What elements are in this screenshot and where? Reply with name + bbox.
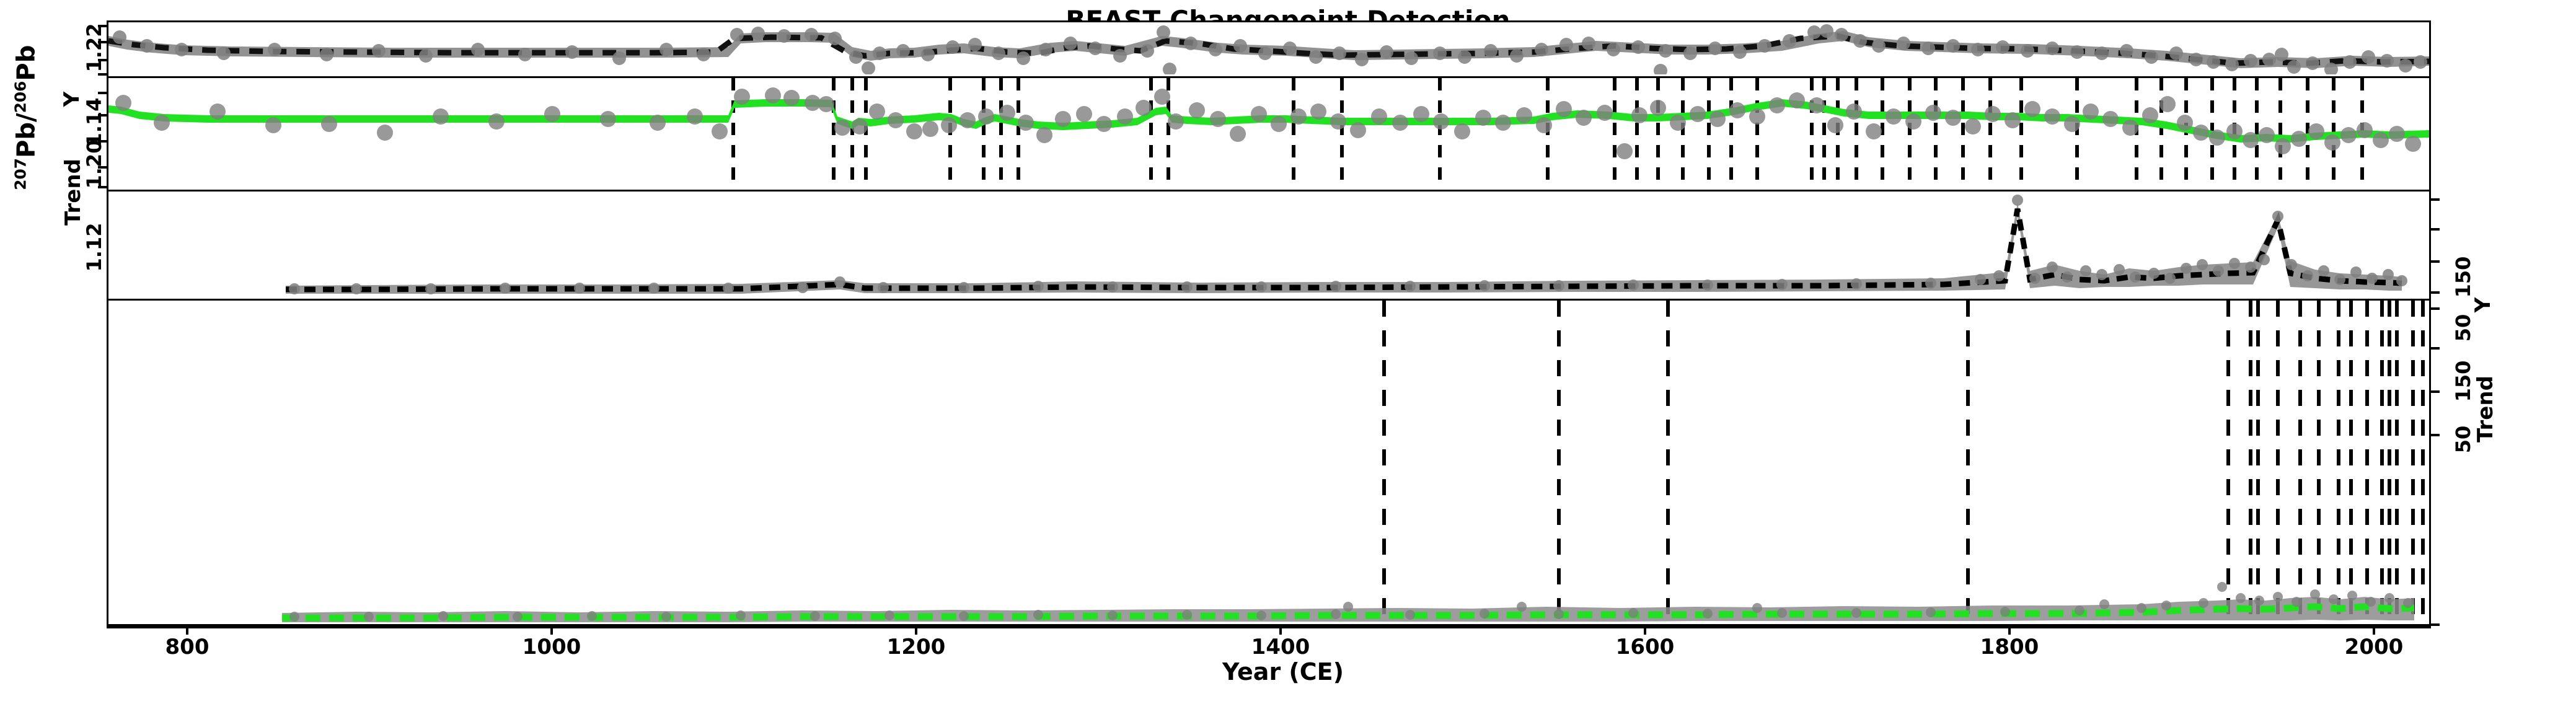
left-axis-title-mid: Pb/ xyxy=(12,113,41,158)
left-axis-title-sup2: 206 xyxy=(11,81,29,113)
panel-2-tick xyxy=(98,186,107,188)
panel-y-ef-plot xyxy=(108,192,2429,297)
panel-1-tick xyxy=(98,41,107,43)
panel-2-ytick-1-12: 1.12 xyxy=(82,210,106,284)
panel-3-tick xyxy=(2431,260,2440,263)
panel-4-axis-name: Trend xyxy=(2473,359,2498,459)
panel-y-pb xyxy=(107,20,2431,76)
left-axis-title-end: Pb xyxy=(12,45,41,81)
panel-2-tick xyxy=(98,140,107,143)
panel-3-tick xyxy=(2431,291,2440,294)
panel-2-tick xyxy=(98,166,107,169)
x-tick-mark xyxy=(2373,626,2375,635)
panel-4-tick xyxy=(2431,347,2440,350)
panel-1-axis-name: Y xyxy=(60,62,84,136)
x-tick-label-1400: 1400 xyxy=(1231,635,1330,659)
x-tick-mark xyxy=(2008,626,2011,635)
panel-4-ytick-50: 50 xyxy=(2451,402,2475,477)
panel-trend-ef-changepoint-lines xyxy=(1384,301,2423,624)
panel-y-pb-plot xyxy=(108,22,2429,74)
panel-4-tick xyxy=(2431,434,2440,436)
x-tick-mark xyxy=(1279,626,1282,635)
panel-1-tick xyxy=(98,59,107,61)
left-axis-title: 207Pb/206Pb xyxy=(11,19,40,217)
panel-3-tick xyxy=(2431,198,2440,201)
panel-3-tick xyxy=(2431,228,2440,231)
panel-2-tick xyxy=(98,114,107,117)
x-tick-mark xyxy=(186,626,188,635)
panel-2-tick xyxy=(98,92,107,94)
panel-y-ef-fit-line xyxy=(286,209,2402,289)
panel-trend-pb-credible-envelope xyxy=(108,99,2429,143)
panel-y-ef xyxy=(107,190,2431,299)
x-tick-label-2000: 2000 xyxy=(2324,635,2424,659)
panel-trend-ef xyxy=(107,299,2431,626)
panel-trend-pb xyxy=(107,76,2431,190)
panel-4-tick xyxy=(2431,307,2440,310)
x-tick-label-1200: 1200 xyxy=(867,635,966,659)
x-tick-label-1000: 1000 xyxy=(502,635,601,659)
x-tick-mark xyxy=(1644,626,1646,635)
x-tick-mark xyxy=(550,626,553,635)
x-tick-mark xyxy=(915,626,917,635)
x-tick-label-800: 800 xyxy=(138,635,237,659)
left-axis-title-sup1: 207 xyxy=(11,158,29,190)
panel-trend-pb-plot xyxy=(108,78,2429,188)
panel-1-tick xyxy=(98,25,107,27)
panel-trend-pb-changepoint-lines xyxy=(733,78,2362,188)
x-axis-line xyxy=(107,626,2431,628)
x-axis-title: Year (CE) xyxy=(1035,658,1531,685)
panel-4-tick xyxy=(2431,623,2440,626)
panel-4-tick xyxy=(2431,390,2440,393)
panel-1-tick xyxy=(98,73,107,76)
panel-2-ytick-1-20: 1.20 xyxy=(82,127,106,201)
panel-trend-ef-plot xyxy=(108,301,2429,624)
panel-2-axis-name: Trend xyxy=(61,143,86,242)
x-tick-label-1800: 1800 xyxy=(1960,635,2059,659)
x-tick-label-1600: 1600 xyxy=(1595,635,1695,659)
